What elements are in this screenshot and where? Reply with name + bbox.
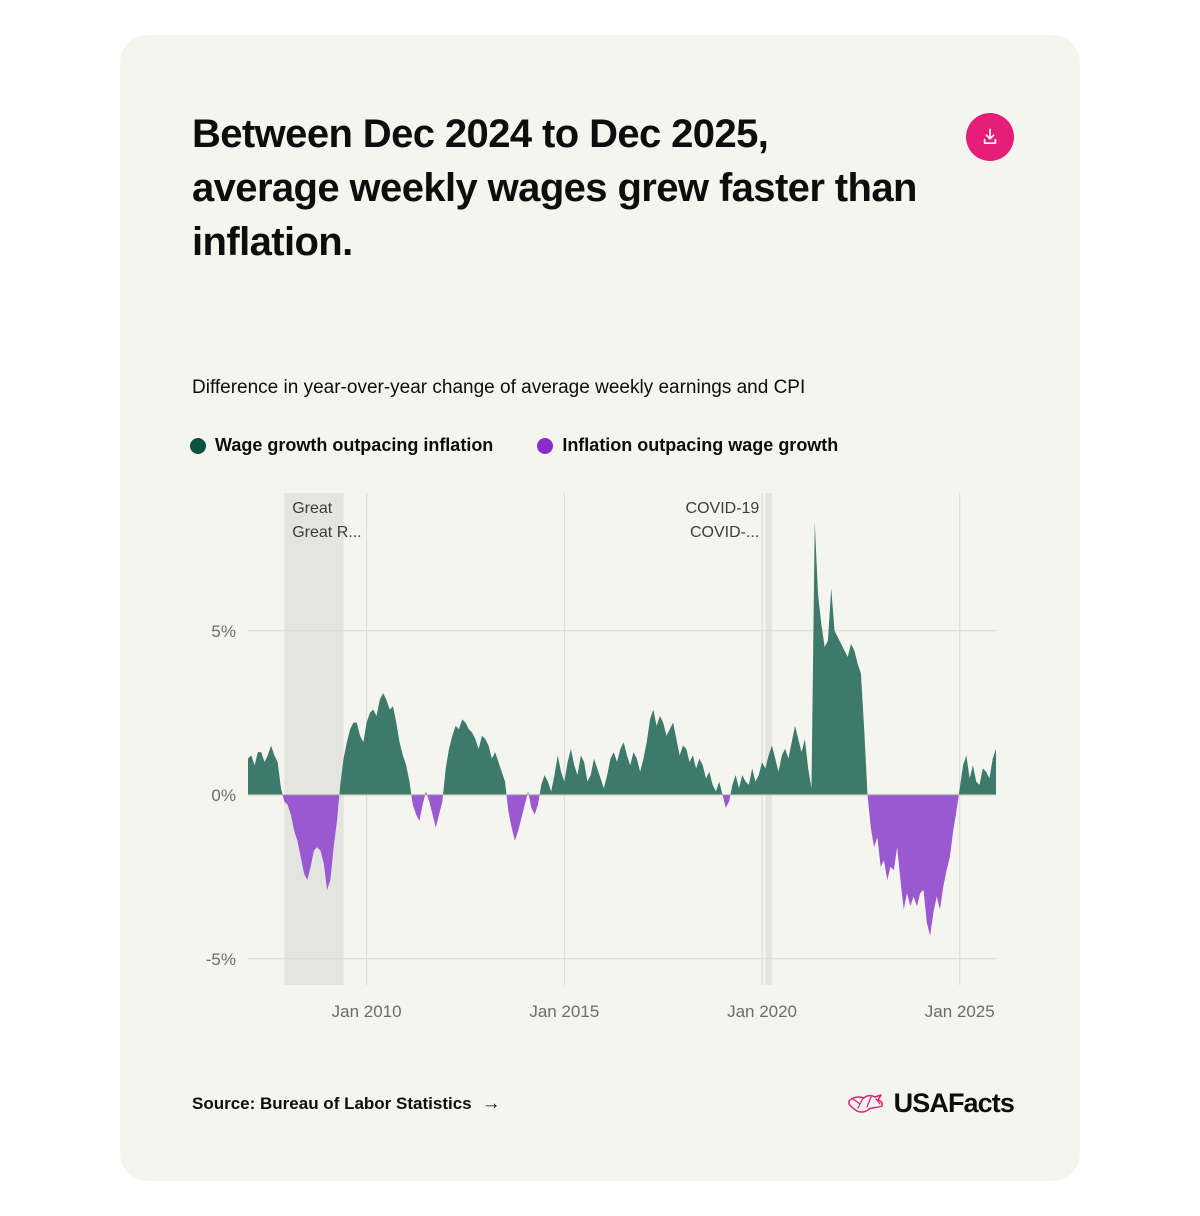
download-button[interactable] [966, 113, 1014, 161]
source-link[interactable]: Source: Bureau of Labor Statistics → [192, 1094, 501, 1114]
legend-swatch-purple [537, 438, 553, 454]
legend-item-inflation[interactable]: Inflation outpacing wage growth [537, 435, 838, 456]
x-axis-tick-Jan-2010: Jan 2010 [332, 1002, 402, 1021]
band-covid-19 [765, 493, 772, 985]
card-footer: Source: Bureau of Labor Statistics → USA… [192, 1088, 1014, 1119]
annotation-great-recession-line2: Great R... [292, 524, 361, 541]
x-axis-tick-Jan-2020: Jan 2020 [727, 1002, 797, 1021]
annotation-covid-19-line2: COVID-... [690, 524, 759, 541]
y-axis-tick-5pct: 5% [211, 622, 236, 641]
download-icon [979, 126, 1001, 148]
brand-name: USAFacts [894, 1088, 1014, 1119]
band-great-recession [284, 493, 343, 985]
chart-card: Between Dec 2024 to Dec 2025, average we… [120, 35, 1080, 1181]
chart-subtitle: Difference in year-over-year change of a… [192, 375, 1032, 401]
area-positive-wage-growth [248, 523, 996, 936]
y-axis-tick-0pct: 0% [211, 786, 236, 805]
area-negative-inflation [248, 523, 996, 936]
legend-label-wage-growth: Wage growth outpacing inflation [215, 435, 493, 456]
page-title: Between Dec 2024 to Dec 2025, average we… [192, 107, 922, 269]
y-axis-tick-neg5pct: -5% [206, 950, 236, 969]
x-axis-tick-Jan-2015: Jan 2015 [529, 1002, 599, 1021]
arrow-right-icon: → [482, 1094, 501, 1113]
us-map-icon [847, 1091, 887, 1117]
chart-legend: Wage growth outpacing inflation Inflatio… [190, 435, 838, 456]
source-label: Source: Bureau of Labor Statistics [192, 1094, 472, 1114]
usafacts-logo: USAFacts [847, 1088, 1014, 1119]
area-chart[interactable]: 5%0%-5%Jan 2010Jan 2015Jan 2020Jan 2025G… [192, 483, 1012, 1043]
x-axis-tick-Jan-2025: Jan 2025 [925, 1002, 995, 1021]
annotation-great-recession-line1: Great [292, 500, 333, 517]
annotation-covid-19-line1: COVID-19 [686, 500, 760, 517]
legend-item-wage-growth[interactable]: Wage growth outpacing inflation [190, 435, 493, 456]
legend-swatch-green [190, 438, 206, 454]
legend-label-inflation: Inflation outpacing wage growth [562, 435, 838, 456]
chart-area[interactable]: 5%0%-5%Jan 2010Jan 2015Jan 2020Jan 2025G… [192, 483, 1012, 1043]
